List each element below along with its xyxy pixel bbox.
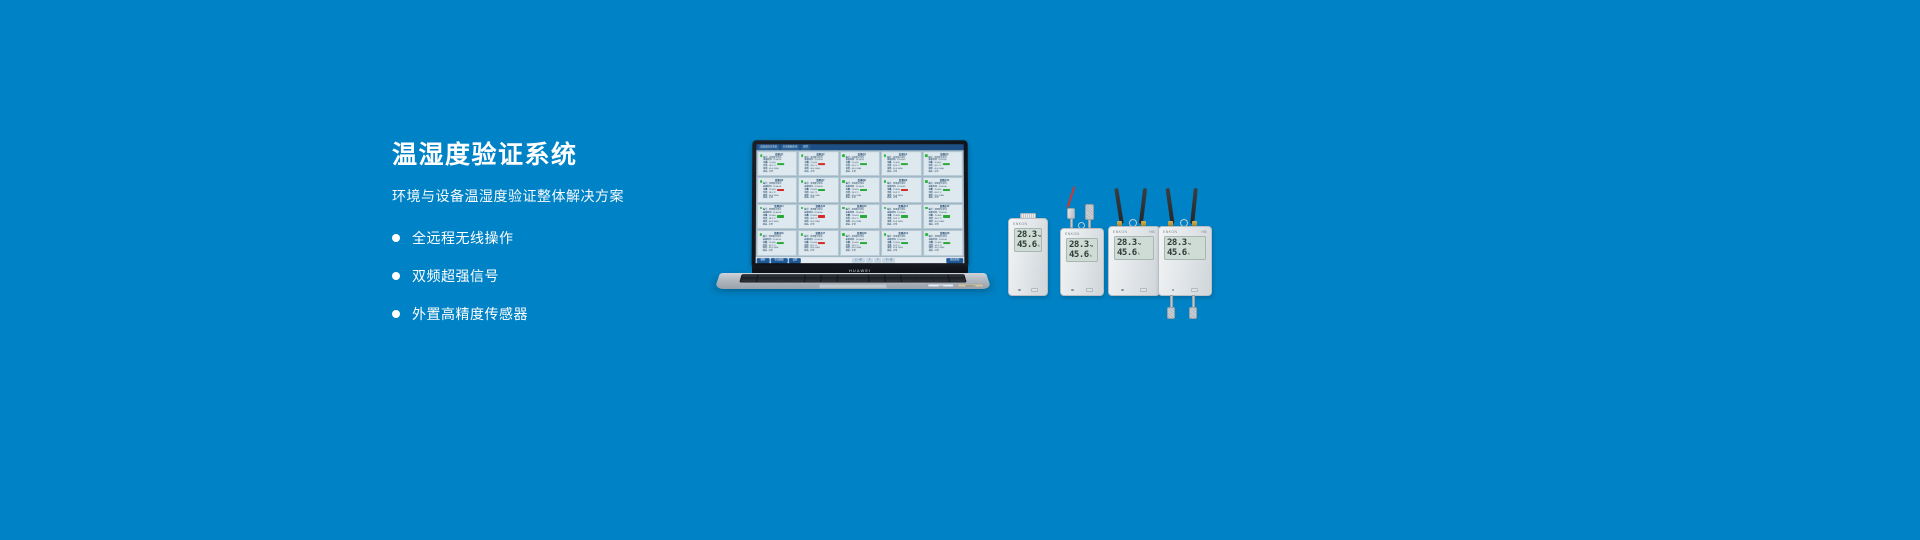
device-lcd-display: 28.3 ℃ 45.6 % bbox=[1014, 228, 1042, 252]
battery-chip-indicator bbox=[818, 242, 825, 244]
status-led-icon bbox=[801, 233, 804, 236]
monitor-card[interactable]: 监测点13编号:温湿度记录仪采集时间:12:00:00电量:75.00%温度:2… bbox=[840, 204, 880, 229]
probe-mesh-right bbox=[1189, 307, 1197, 319]
exit-button[interactable]: 退出系统 bbox=[946, 258, 963, 264]
humidity-value: 45.6 bbox=[1117, 248, 1137, 258]
device-model: HB bbox=[1149, 230, 1155, 234]
keyboard-key[interactable] bbox=[773, 281, 789, 282]
monitor-card-value: 正常 bbox=[810, 197, 814, 200]
status-led-icon bbox=[801, 207, 804, 209]
monitor-card[interactable]: 监测点2编号:温湿度记录仪采集时间:12:00:00电量:75.00%温度:28… bbox=[798, 151, 838, 176]
antenna-left-icon bbox=[1114, 188, 1124, 224]
page-subtitle: 环境与设备温湿度验证整体解决方案 bbox=[392, 186, 722, 206]
device-button-row bbox=[1061, 288, 1103, 292]
status-led-icon bbox=[1121, 289, 1124, 292]
monitor-card-key: 状态: bbox=[763, 224, 768, 227]
monitor-card-value: 正常 bbox=[810, 250, 814, 253]
battery-chip-indicator bbox=[901, 215, 908, 217]
humidity-unit: % bbox=[1038, 244, 1040, 248]
lcd-temperature-line: 28.3 ℃ bbox=[1117, 238, 1151, 248]
feature-label: 全远程无线操作 bbox=[412, 228, 514, 248]
pagination: 上一页 1 2 下一页 bbox=[852, 258, 896, 264]
monitor-card[interactable]: 监测点10编号:温湿度记录仪采集时间:12:00:00电量:75.00%温度:2… bbox=[923, 177, 963, 202]
battery-chip-indicator bbox=[777, 163, 784, 165]
battery-chip-indicator bbox=[860, 242, 867, 244]
bullet-dot-icon bbox=[392, 310, 400, 318]
humidity-unit: % bbox=[1090, 254, 1092, 258]
monitor-card-row: 状态:正常 bbox=[804, 224, 836, 227]
status-led-icon bbox=[842, 180, 844, 182]
device-lcd-display: 28.3 ℃ 45.6 % bbox=[1066, 238, 1098, 262]
antenna-right-icon bbox=[1190, 188, 1198, 224]
humidity-value: 45.6 bbox=[1017, 240, 1037, 250]
keyboard-key[interactable] bbox=[805, 281, 821, 282]
device-button-row bbox=[1109, 288, 1159, 292]
keyboard-key[interactable] bbox=[950, 281, 966, 282]
device-dualband-logger: ENKON HB 28.3 ℃ 45.6 % bbox=[1108, 188, 1160, 296]
device-brand-row: ENKON HB bbox=[1159, 227, 1211, 235]
device-button-up[interactable] bbox=[1031, 288, 1038, 292]
battery-chip-indicator bbox=[818, 163, 825, 165]
laptop-base: Intel ENERGY bbox=[715, 273, 992, 289]
monitor-card-key: 状态: bbox=[887, 171, 892, 174]
page-next-button[interactable]: 下一页 bbox=[882, 258, 895, 264]
monitor-card-value: 正常 bbox=[935, 224, 939, 227]
keyboard-row bbox=[740, 281, 965, 282]
monitor-card[interactable]: 监测点16编号:温湿度记录仪采集时间:12:00:00电量:75.00%温度:2… bbox=[757, 230, 798, 256]
monitor-card-key: 状态: bbox=[887, 197, 892, 200]
monitor-card-row: 状态:正常 bbox=[929, 197, 961, 200]
settings-button[interactable]: 设置 bbox=[789, 258, 802, 264]
monitor-card-row: 状态:正常 bbox=[887, 197, 919, 200]
feature-list: 全远程无线操作 双频超强信号 外置高精度传感器 bbox=[392, 228, 722, 324]
device-button-row bbox=[1009, 288, 1047, 292]
keyboard-key[interactable] bbox=[837, 281, 853, 282]
monitor-card[interactable]: 监测点20编号:温湿度记录仪采集时间:12:00:00电量:75.00%温度:2… bbox=[923, 230, 964, 256]
monitor-card-key: 状态: bbox=[763, 197, 768, 200]
device-temp-humidity-logger: ENKON 28.3 ℃ 45.6 % bbox=[1008, 218, 1048, 296]
device-body: ENKON HB 28.3 ℃ 45.6 % bbox=[1158, 226, 1212, 296]
monitor-card[interactable]: 监测点4编号:温湿度记录仪采集时间:12:00:00电量:75.00%温度:28… bbox=[881, 151, 921, 176]
monitor-card-key: 状态: bbox=[846, 171, 851, 174]
monitor-card-row: 状态:正常 bbox=[846, 224, 878, 227]
monitor-card-value: 正常 bbox=[893, 250, 897, 253]
device-button-up[interactable] bbox=[1140, 288, 1147, 292]
status-led-icon bbox=[884, 233, 887, 236]
device-brand-row: ENKON HB bbox=[1109, 227, 1159, 235]
probe-stem bbox=[1088, 219, 1091, 228]
feature-label: 外置高精度传感器 bbox=[412, 304, 528, 324]
keyboard-key[interactable] bbox=[740, 281, 756, 282]
monitor-card-row: 状态:正常 bbox=[929, 250, 961, 253]
battery-chip-indicator bbox=[860, 163, 867, 165]
lcd-humidity-line: 45.6 % bbox=[1069, 250, 1095, 260]
battery-chip-indicator bbox=[942, 163, 949, 165]
monitor-card-row: 状态:正常 bbox=[846, 197, 878, 200]
monitor-card[interactable]: 监测点6编号:温湿度记录仪采集时间:12:00:00电量:75.00%温度:28… bbox=[757, 177, 797, 202]
device-body: ENKON 28.3 ℃ 45.6 % bbox=[1060, 228, 1104, 296]
keyboard-key[interactable] bbox=[853, 281, 869, 282]
device-dualband-probe-logger: ENKON HB 28.3 ℃ 45.6 % bbox=[1158, 188, 1212, 318]
temperature-value: 28.3 bbox=[1017, 230, 1037, 240]
monitor-card-row: 状态:正常 bbox=[846, 250, 878, 253]
monitor-card-row: 状态:正常 bbox=[887, 250, 919, 253]
bullet-dot-icon bbox=[392, 234, 400, 242]
status-led-icon bbox=[925, 233, 928, 236]
monitor-card[interactable]: 监测点15编号:温湿度记录仪采集时间:12:00:00电量:75.00%温度:2… bbox=[923, 204, 964, 229]
status-led-icon bbox=[884, 154, 886, 156]
monitor-card-value: 正常 bbox=[769, 250, 773, 253]
status-led-icon bbox=[925, 207, 928, 209]
energy-sticker: ENERGY bbox=[957, 284, 985, 287]
status-led-icon bbox=[884, 207, 887, 209]
temperature-value: 28.3 bbox=[1117, 238, 1137, 248]
temperature-unit: ℃ bbox=[1138, 242, 1142, 246]
status-led-icon bbox=[801, 154, 804, 156]
monitor-card-value: 正常 bbox=[893, 197, 897, 200]
monitor-card-key: 状态: bbox=[887, 250, 892, 253]
monitor-card[interactable]: 监测点3编号:温湿度记录仪采集时间:12:00:00电量:75.00%温度:28… bbox=[840, 151, 880, 176]
temperature-value: 28.3 bbox=[1167, 238, 1187, 248]
device-body: ENKON HB 28.3 ℃ 45.6 % bbox=[1108, 226, 1160, 296]
page-title: 温湿度验证系统 bbox=[392, 140, 722, 170]
lcd-humidity-line: 45.6 % bbox=[1117, 248, 1151, 258]
keyboard-key[interactable] bbox=[885, 281, 901, 282]
monitor-card-row: 状态:正常 bbox=[929, 224, 961, 227]
status-led-icon bbox=[842, 207, 845, 209]
list-item: 双频超强信号 bbox=[392, 266, 722, 286]
page-prev-button[interactable]: 上一页 bbox=[852, 258, 865, 264]
battery-chip-indicator bbox=[901, 163, 908, 165]
status-led-icon bbox=[925, 154, 928, 156]
monitor-card-row: 状态:正常 bbox=[804, 250, 836, 253]
battery-chip-indicator bbox=[943, 215, 950, 217]
temperature-unit: ℃ bbox=[1188, 242, 1192, 246]
device-brand-row: ENKON bbox=[1061, 229, 1103, 237]
battery-chip-indicator bbox=[901, 242, 908, 244]
monitor-card-row: 状态:正常 bbox=[763, 197, 795, 200]
status-led-icon bbox=[759, 207, 762, 209]
monitor-card-value: 正常 bbox=[935, 250, 939, 253]
device-button-up[interactable] bbox=[1086, 288, 1093, 292]
list-item: 全远程无线操作 bbox=[392, 228, 722, 248]
monitor-card-value: 正常 bbox=[769, 224, 773, 227]
monitor-card[interactable]: 监测点9编号:温湿度记录仪采集时间:12:00:00电量:75.00%温度:28… bbox=[881, 177, 921, 202]
monitor-card-grid: 监测点1编号:温湿度记录仪采集时间:12:00:00电量:75.00%温度:28… bbox=[756, 150, 965, 257]
keyboard-key[interactable] bbox=[934, 281, 950, 282]
probe-mesh-left bbox=[1167, 307, 1175, 319]
status-led-icon bbox=[1172, 289, 1175, 292]
monitor-card[interactable]: 监测点8编号:温湿度记录仪采集时间:12:00:00电量:75.00%温度:28… bbox=[840, 177, 880, 202]
monitor-card[interactable]: 监测点19编号:温湿度记录仪采集时间:12:00:00电量:75.00%温度:2… bbox=[881, 230, 922, 256]
status-led-icon bbox=[1018, 289, 1021, 292]
battery-chip-indicator bbox=[777, 215, 784, 217]
monitor-card-value: 正常 bbox=[893, 171, 897, 174]
monitor-card-row: 状态:正常 bbox=[928, 171, 960, 174]
monitor-card-value: 正常 bbox=[852, 171, 856, 174]
keyboard-key[interactable] bbox=[789, 281, 805, 282]
lcd-temperature-line: 28.3 ℃ bbox=[1017, 230, 1039, 240]
page-2-button[interactable]: 2 bbox=[874, 258, 881, 264]
monitor-card-row: 状态:正常 bbox=[846, 171, 878, 174]
laptop-lid: 温湿度验证系统 历史数据查询 报警 监测点1编号:温湿度记录仪采集时间:12:0… bbox=[752, 140, 969, 266]
device-brand: ENKON bbox=[1113, 230, 1127, 234]
battery-chip-indicator bbox=[818, 215, 825, 217]
monitor-card-key: 状态: bbox=[846, 197, 851, 200]
device-lcd-display: 28.3 ℃ 45.6 % bbox=[1164, 236, 1206, 260]
monitor-card-row: 状态:正常 bbox=[804, 197, 836, 200]
keyboard-key[interactable] bbox=[918, 281, 934, 282]
probe-wire bbox=[1067, 186, 1075, 207]
monitor-card-row: 状态:正常 bbox=[887, 171, 919, 174]
lcd-temperature-line: 28.3 ℃ bbox=[1167, 238, 1203, 248]
monitor-card[interactable]: 监测点5编号:温湿度记录仪采集时间:12:00:00电量:75.00%温度:28… bbox=[922, 151, 962, 176]
monitor-card-key: 状态: bbox=[804, 171, 809, 174]
monitor-card-key: 状态: bbox=[929, 224, 934, 227]
monitor-card[interactable]: 监测点17编号:温湿度记录仪采集时间:12:00:00电量:75.00%温度:2… bbox=[798, 230, 839, 256]
device-model: HB bbox=[1201, 230, 1207, 234]
monitor-card-row: 状态:正常 bbox=[763, 224, 795, 227]
humidity-unit: % bbox=[1138, 252, 1140, 256]
monitor-card[interactable]: 监测点11编号:温湿度记录仪采集时间:12:00:00电量:75.00%温度:2… bbox=[757, 204, 798, 229]
monitor-card-key: 状态: bbox=[846, 224, 851, 227]
monitor-card-value: 正常 bbox=[769, 197, 773, 200]
monitor-card-row: 状态:正常 bbox=[763, 250, 795, 253]
monitor-card-key: 状态: bbox=[804, 224, 809, 227]
status-led-icon bbox=[1071, 289, 1074, 292]
monitor-card[interactable]: 监测点14编号:温湿度记录仪采集时间:12:00:00电量:75.00%温度:2… bbox=[881, 204, 921, 229]
export-button[interactable]: 导出数据 bbox=[770, 258, 787, 264]
monitor-card-key: 状态: bbox=[928, 171, 933, 174]
probe-stem bbox=[1070, 218, 1073, 228]
status-led-icon bbox=[760, 180, 763, 182]
intel-sticker: Intel bbox=[927, 284, 955, 287]
monitor-card-key: 状态: bbox=[763, 171, 768, 174]
bullet-dot-icon bbox=[392, 272, 400, 280]
device-button-row bbox=[1159, 288, 1211, 292]
laptop-trackpad[interactable] bbox=[819, 284, 888, 289]
temperature-value: 28.3 bbox=[1069, 240, 1089, 250]
monitor-card[interactable]: 监测点1编号:温湿度记录仪采集时间:12:00:00电量:75.00%温度:28… bbox=[757, 151, 797, 176]
humidity-unit: % bbox=[1188, 252, 1190, 256]
product-banner: 温湿度验证系统 环境与设备温湿度验证整体解决方案 全远程无线操作 双频超强信号 … bbox=[0, 0, 1920, 540]
probe-mesh-sensor bbox=[1085, 204, 1094, 220]
status-led-icon bbox=[925, 180, 928, 182]
laptop-illustration: 温湿度验证系统 历史数据查询 报警 监测点1编号:温湿度记录仪采集时间:12:0… bbox=[720, 140, 986, 298]
monitor-card-value: 正常 bbox=[934, 197, 938, 200]
monitor-card-value: 正常 bbox=[852, 224, 856, 227]
keyboard-key[interactable] bbox=[756, 281, 772, 282]
monitor-card[interactable]: 监测点7编号:温湿度记录仪采集时间:12:00:00电量:75.00%温度:28… bbox=[798, 177, 838, 202]
monitor-card-value: 正常 bbox=[852, 250, 856, 253]
device-lcd-display: 28.3 ℃ 45.6 % bbox=[1114, 236, 1154, 260]
list-item: 外置高精度传感器 bbox=[392, 304, 722, 324]
marketing-copy: 温湿度验证系统 环境与设备温湿度验证整体解决方案 全远程无线操作 双频超强信号 … bbox=[392, 140, 722, 342]
temperature-unit: ℃ bbox=[1038, 234, 1042, 238]
refresh-button[interactable]: 刷新 bbox=[757, 258, 770, 264]
status-led-icon bbox=[801, 180, 804, 182]
status-led-icon bbox=[760, 154, 763, 156]
monitor-card-value: 正常 bbox=[769, 171, 773, 174]
lcd-humidity-line: 45.6 % bbox=[1167, 248, 1203, 258]
device-external-probe-logger: ENKON 28.3 ℃ 45.6 % bbox=[1060, 198, 1104, 296]
antenna-right-icon bbox=[1139, 188, 1147, 224]
device-brand: ENKON bbox=[1013, 222, 1027, 226]
monitor-card-value: 正常 bbox=[893, 224, 897, 227]
keyboard-key[interactable] bbox=[821, 281, 837, 282]
app-bottom-toolbar: 刷新 导出数据 设置 上一页 1 2 下一页 退出系统 bbox=[756, 257, 965, 263]
monitor-card[interactable]: 监测点12编号:温湿度记录仪采集时间:12:00:00电量:75.00%温度:2… bbox=[798, 204, 838, 229]
device-button-up[interactable] bbox=[1191, 288, 1198, 292]
humidity-value: 45.6 bbox=[1069, 250, 1089, 260]
status-led-icon bbox=[842, 154, 844, 156]
monitor-card-key: 状态: bbox=[804, 197, 809, 200]
monitor-card-value: 正常 bbox=[810, 171, 814, 174]
monitor-card-key: 状态: bbox=[929, 250, 934, 253]
battery-chip-indicator bbox=[860, 215, 867, 217]
lcd-temperature-line: 28.3 ℃ bbox=[1069, 240, 1095, 250]
monitor-card-value: 正常 bbox=[934, 171, 938, 174]
monitor-card-key: 状态: bbox=[929, 197, 934, 200]
monitor-card-key: 状态: bbox=[804, 250, 809, 253]
monitor-card-key: 状态: bbox=[887, 224, 892, 227]
lcd-humidity-line: 45.6 % bbox=[1017, 240, 1039, 250]
laptop-screen: 温湿度验证系统 历史数据查询 报警 监测点1编号:温湿度记录仪采集时间:12:0… bbox=[756, 144, 965, 263]
device-brand-row: ENKON bbox=[1009, 219, 1047, 227]
monitor-card-row: 状态:正常 bbox=[763, 171, 795, 174]
device-brand: ENKON bbox=[1163, 230, 1177, 234]
monitor-card-value: 正常 bbox=[810, 224, 814, 227]
monitor-card-value: 正常 bbox=[852, 197, 856, 200]
monitor-card-key: 状态: bbox=[846, 250, 851, 253]
exit-group: 退出系统 bbox=[946, 258, 963, 264]
temperature-unit: ℃ bbox=[1090, 244, 1094, 248]
monitor-card-row: 状态:正常 bbox=[804, 171, 836, 174]
antenna-left-icon bbox=[1166, 188, 1175, 224]
action-button-group: 刷新 导出数据 设置 bbox=[757, 258, 802, 264]
device-brand: ENKON bbox=[1065, 232, 1079, 236]
page-1-button[interactable]: 1 bbox=[866, 258, 873, 264]
battery-chip-indicator bbox=[943, 242, 950, 244]
monitor-card-key: 状态: bbox=[763, 250, 768, 253]
status-led-icon bbox=[759, 233, 762, 236]
feature-label: 双频超强信号 bbox=[412, 266, 499, 286]
device-body: ENKON 28.3 ℃ 45.6 % bbox=[1008, 218, 1048, 296]
keyboard-key[interactable] bbox=[902, 281, 918, 282]
laptop-keyboard[interactable] bbox=[739, 274, 966, 282]
monitor-card[interactable]: 监测点18编号:温湿度记录仪采集时间:12:00:00电量:75.00%温度:2… bbox=[840, 230, 881, 256]
battery-chip-indicator bbox=[777, 242, 784, 244]
status-led-icon bbox=[842, 233, 845, 236]
status-led-icon bbox=[884, 180, 887, 182]
monitor-card-row: 状态:正常 bbox=[887, 224, 919, 227]
keyboard-key[interactable] bbox=[869, 281, 885, 282]
humidity-value: 45.6 bbox=[1167, 248, 1187, 258]
